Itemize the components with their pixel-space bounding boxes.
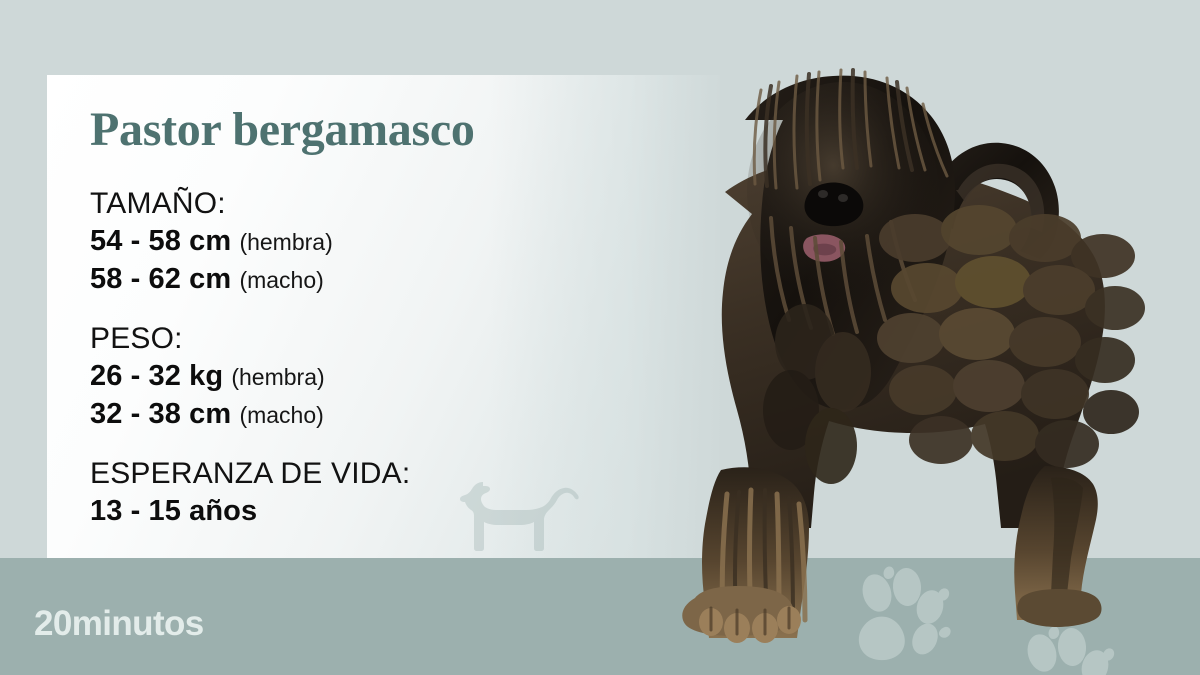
spec-label-weight: PESO: bbox=[90, 321, 410, 358]
bergamasco-shepherd-dog-photo bbox=[575, 42, 1175, 647]
spec-group-lifespan: ESPERANZA DE VIDA: 13 - 15 años bbox=[90, 456, 410, 531]
spec-label-size: TAMAÑO: bbox=[90, 186, 410, 223]
spec-value-weight-female: 26 - 32 kg bbox=[90, 360, 223, 392]
brand-word: minutos bbox=[72, 604, 204, 643]
spec-group-weight: PESO: 26 - 32 kg (hembra) 32 - 38 cm (ma… bbox=[90, 321, 410, 434]
spec-note-weight-female: (hembra) bbox=[231, 364, 324, 390]
spec-note-size-female: (hembra) bbox=[239, 229, 332, 255]
spec-value-lifespan: 13 - 15 años bbox=[90, 495, 257, 527]
infographic-canvas: Pastor bergamasco TAMAÑO: 54 - 58 cm (he… bbox=[0, 0, 1200, 675]
spec-note-size-male: (macho) bbox=[239, 267, 323, 293]
spec-row-weight-female: 26 - 32 kg (hembra) bbox=[90, 358, 410, 396]
spec-row-weight-male: 32 - 38 cm (macho) bbox=[90, 396, 410, 434]
spec-label-lifespan: ESPERANZA DE VIDA: bbox=[90, 456, 410, 493]
spec-group-size: TAMAÑO: 54 - 58 cm (hembra) 58 - 62 cm (… bbox=[90, 186, 410, 299]
spec-row-size-male: 58 - 62 cm (macho) bbox=[90, 261, 410, 299]
spec-value-size-male: 58 - 62 cm bbox=[90, 263, 231, 295]
spec-row-lifespan: 13 - 15 años bbox=[90, 493, 410, 531]
spec-row-size-female: 54 - 58 cm (hembra) bbox=[90, 223, 410, 261]
spec-list: TAMAÑO: 54 - 58 cm (hembra) 58 - 62 cm (… bbox=[90, 186, 410, 531]
brand-number: 20 bbox=[34, 604, 72, 643]
brand-logo-20minutos[interactable]: 20minutos bbox=[34, 606, 204, 641]
page-title: Pastor bergamasco bbox=[90, 105, 475, 155]
spec-value-size-female: 54 - 58 cm bbox=[90, 225, 231, 257]
spec-value-weight-male: 32 - 38 cm bbox=[90, 398, 231, 430]
spec-note-weight-male: (macho) bbox=[239, 402, 323, 428]
